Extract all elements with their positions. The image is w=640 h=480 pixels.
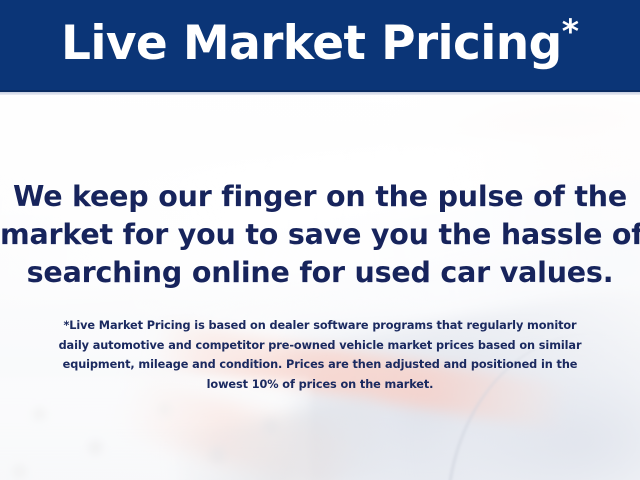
page-title-text: Live Market Pricing bbox=[61, 16, 562, 71]
page-title: Live Market Pricing* bbox=[61, 20, 579, 70]
live-market-pricing-banner: Live Market Pricing* We keep our finger … bbox=[0, 0, 640, 480]
header-underline-divider bbox=[0, 92, 640, 95]
disclaimer-line-2: daily automotive and competitor pre-owne… bbox=[0, 336, 640, 356]
headline-block: We keep our finger on the pulse of the m… bbox=[0, 178, 640, 292]
disclaimer-line-3: equipment, mileage and condition. Prices… bbox=[0, 355, 640, 375]
headline-line-2: market for you to save you the hassle of bbox=[0, 216, 640, 254]
headline-line-3: searching online for used car values. bbox=[0, 254, 640, 292]
headline-line-1: We keep our finger on the pulse of the bbox=[0, 178, 640, 216]
page-title-footnote-marker: * bbox=[562, 11, 579, 50]
disclaimer-block: *Live Market Pricing is based on dealer … bbox=[0, 316, 640, 394]
disclaimer-line-1: *Live Market Pricing is based on dealer … bbox=[0, 316, 640, 336]
disclaimer-line-4: lowest 10% of prices on the market. bbox=[0, 375, 640, 395]
header-band: Live Market Pricing* bbox=[0, 0, 640, 92]
